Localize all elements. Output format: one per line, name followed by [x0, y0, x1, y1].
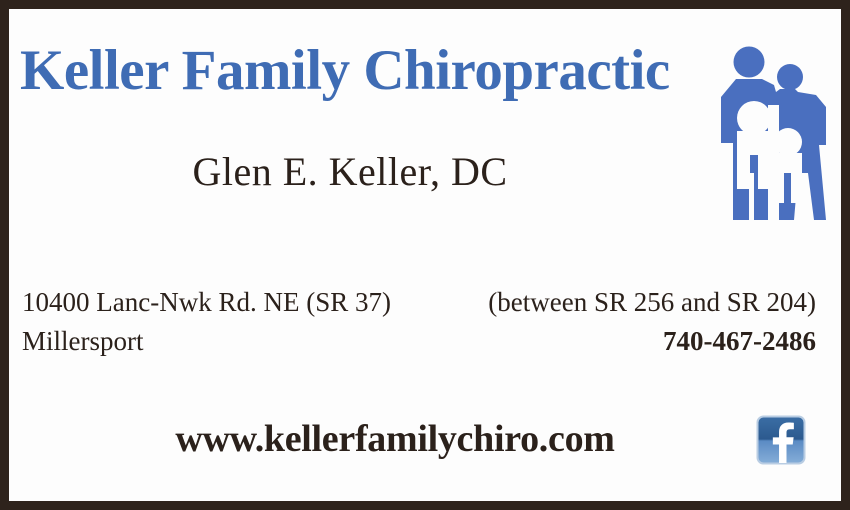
facebook-icon-graphic: [756, 415, 806, 465]
address-city: Millersport: [22, 325, 144, 357]
family-logo-graphic: [716, 45, 832, 220]
card-border-right: [841, 0, 850, 510]
facebook-icon[interactable]: [756, 415, 806, 465]
business-card: Keller Family Chiropractic Glen E. Kelle…: [0, 0, 850, 510]
practice-name: Keller Family Chiropractic: [20, 42, 670, 99]
phone-number[interactable]: 740-467-2486: [663, 325, 816, 357]
adult-female-head-icon: [777, 64, 803, 90]
child-one-head-cutout: [737, 101, 771, 135]
website-url[interactable]: www.kellerfamilychiro.com: [0, 417, 790, 461]
family-logo: [716, 45, 832, 220]
card-border-top: [0, 0, 850, 9]
child-two-head-cutout: [774, 128, 802, 156]
card-border-bottom: [0, 501, 850, 510]
doctor-name: Glen E. Keller, DC: [0, 150, 700, 194]
address-street: 10400 Lanc-Nwk Rd. NE (SR 37): [22, 286, 391, 318]
adult-male-head-icon: [734, 47, 765, 78]
address-cross-streets: (between SR 256 and SR 204): [488, 286, 816, 318]
figure-gap-cutout: [725, 149, 731, 215]
adult-bodies-shape: [721, 79, 826, 220]
